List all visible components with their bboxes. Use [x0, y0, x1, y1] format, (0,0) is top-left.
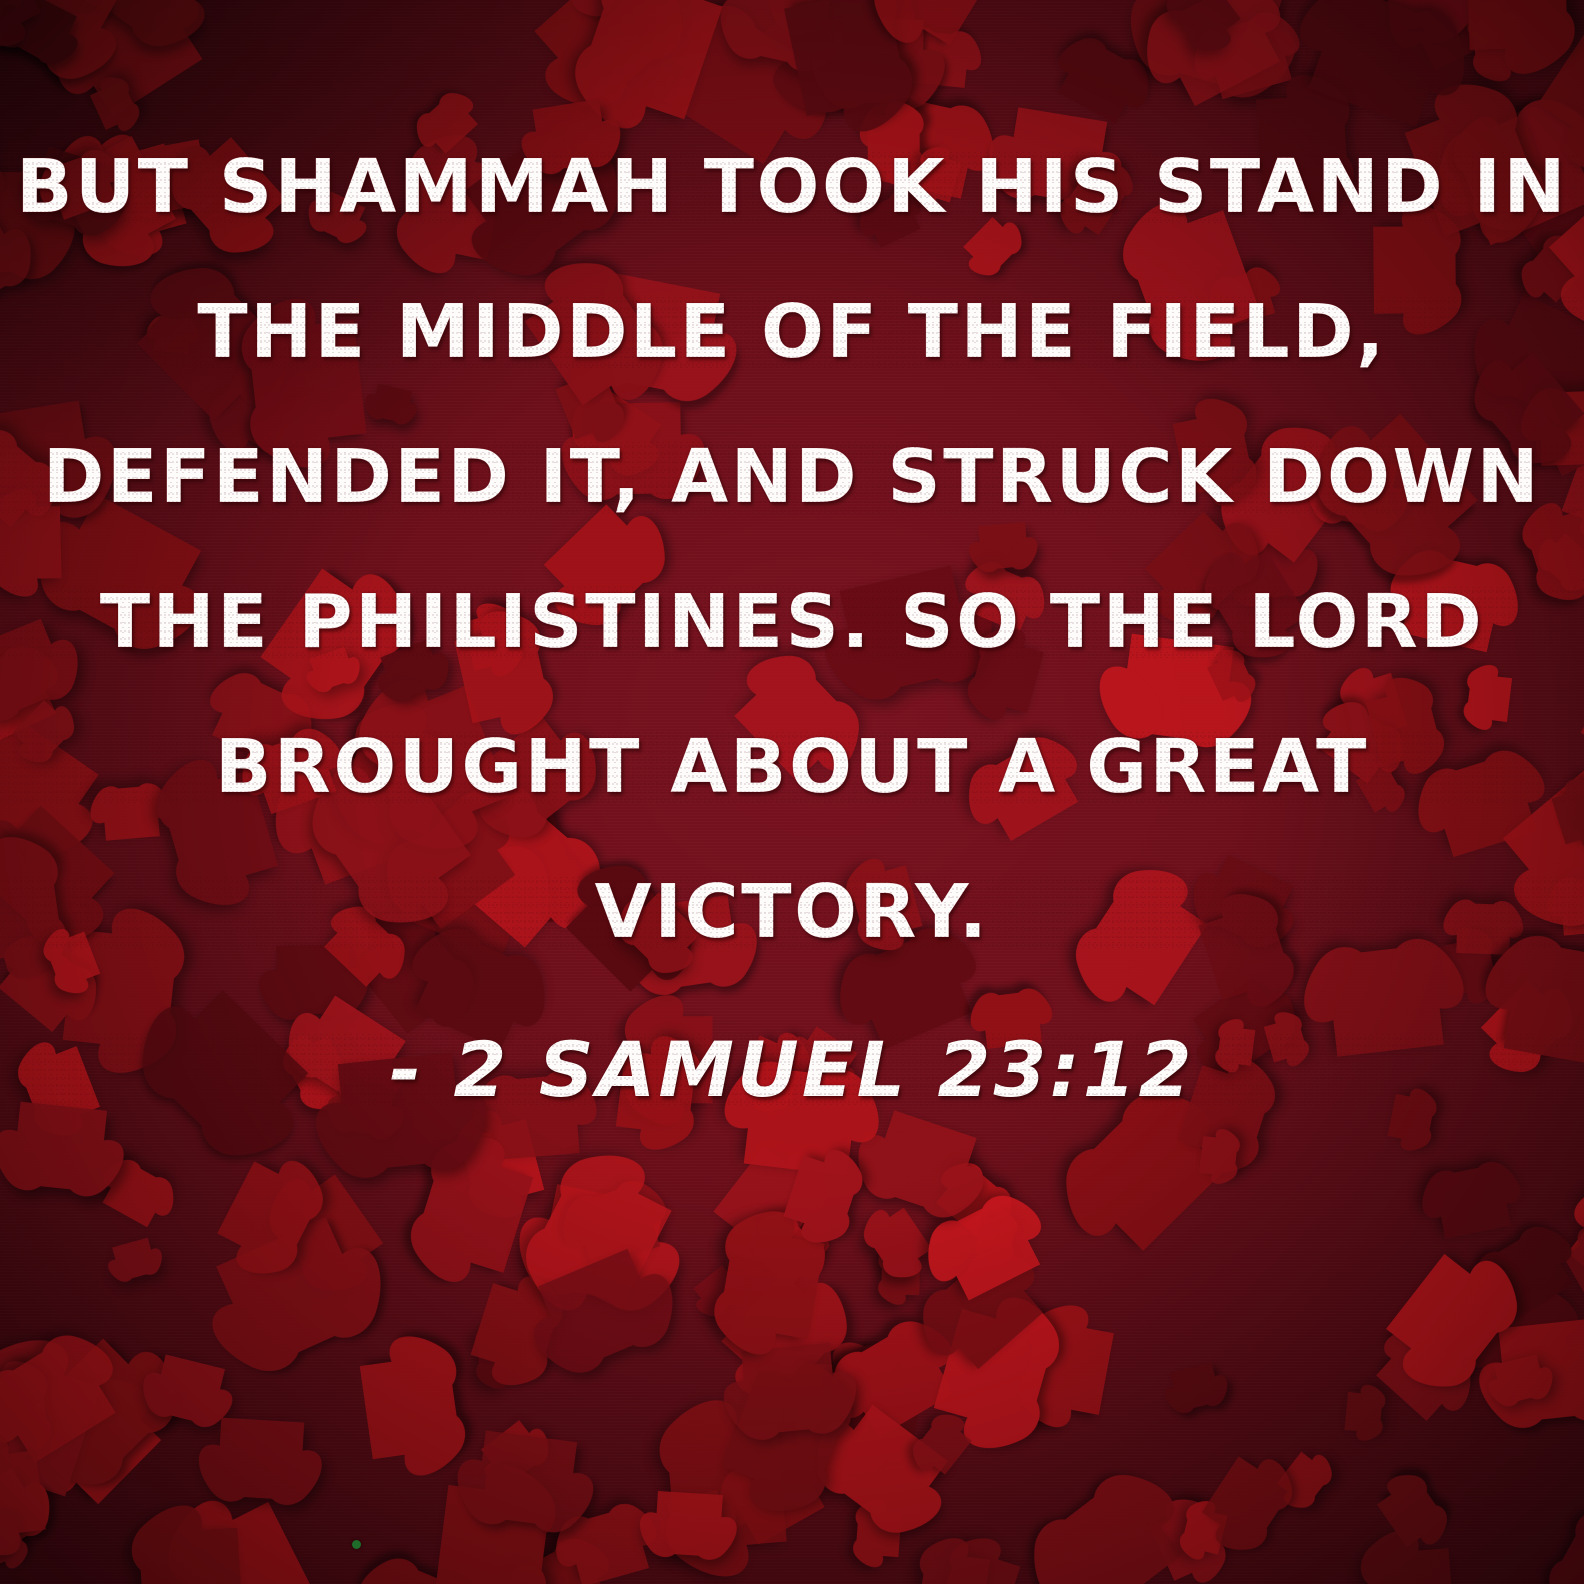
verse-text-layer: BUT SHAMMAH TOOK HIS STAND IN THE MIDDLE… [0, 0, 1584, 1584]
quote-line-4: THE PHILISTINES. SO THE LORD [0, 585, 1584, 659]
quote-line-2: THE MIDDLE OF THE FIELD, [0, 295, 1584, 369]
verse-attribution: - 2 SAMUEL 23:12 [0, 1032, 1584, 1108]
verse-attribution-text: - 2 SAMUEL 23:12 [390, 1025, 1195, 1114]
quote-line-1-text: BUT SHAMMAH TOOK HIS STAND IN [16, 144, 1568, 230]
quote-line-2-text: THE MIDDLE OF THE FIELD, [197, 289, 1386, 375]
quote-line-5-text: BROUGHT ABOUT A GREAT [215, 724, 1369, 810]
quote-line-3: DEFENDED IT, AND STRUCK DOWN [0, 440, 1584, 514]
quote-line-6: VICTORY. [0, 875, 1584, 949]
quote-line-6-text: VICTORY. [595, 869, 990, 955]
quote-line-3-text: DEFENDED IT, AND STRUCK DOWN [43, 434, 1541, 520]
quote-line-4-text: THE PHILISTINES. SO THE LORD [100, 579, 1485, 665]
verse-image-canvas: BUT SHAMMAH TOOK HIS STAND IN THE MIDDLE… [0, 0, 1584, 1584]
quote-line-5: BROUGHT ABOUT A GREAT [0, 730, 1584, 804]
quote-line-1: BUT SHAMMAH TOOK HIS STAND IN [0, 150, 1584, 224]
